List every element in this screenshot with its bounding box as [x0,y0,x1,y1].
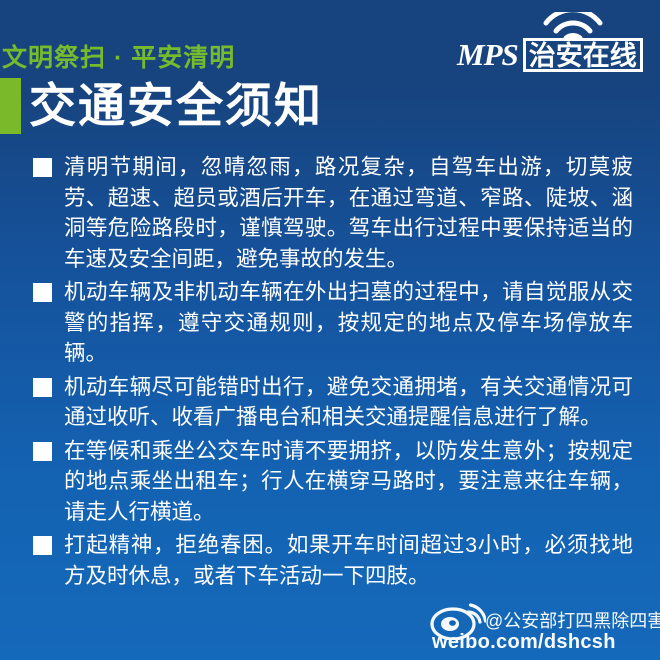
bullet-square-icon [33,283,52,302]
list-item: 机动车辆尽可能错时出行，避免交通拥堵，有关交通情况可通过收听、收看广播电台和相关… [33,372,633,433]
weibo-watermark: @公安部打四黑除四害 weibo.com/dshcsh [430,598,655,654]
notice-text: 机动车辆尽可能错时出行，避免交通拥堵，有关交通情况可通过收听、收看广播电台和相关… [64,372,633,433]
mps-latin-wordmark: MPS [454,38,523,72]
weibo-url-text: weibo.com/dshcsh [432,631,616,653]
green-accent-bar [0,78,21,134]
mps-chinese-wordmark: 治安在线 [523,38,643,72]
notice-list: 清明节期间，忽晴忽雨，路况复杂，自驾车出游，切莫疲劳、超速、超员或酒后开车，在通… [33,152,633,594]
header-subtitle: 文明祭扫 · 平安清明 [2,43,235,73]
list-item: 打起精神，拒绝春困。如果开车时间超过3小时，必须找地方及时休息，或者下车活动一下… [33,530,633,591]
notice-text: 清明节期间，忽晴忽雨，路况复杂，自驾车出游，切莫疲劳、超速、超员或酒后开车，在通… [64,152,633,274]
header: 文明祭扫 · 平安清明 交通安全须知 MPS 治安在线 [0,0,660,145]
list-item: 清明节期间，忽晴忽雨，路况复杂，自驾车出游，切莫疲劳、超速、超员或酒后开车，在通… [33,152,633,274]
bullet-square-icon [33,378,52,397]
notice-text: 打起精神，拒绝春困。如果开车时间超过3小时，必须找地方及时休息，或者下车活动一下… [64,530,633,591]
mps-logo-wordmark-row: MPS 治安在线 [454,38,643,72]
notice-text: 在等候和乘坐公交车时请不要拥挤，以防发生意外；按规定的地点乘坐出租车；行人在横穿… [64,436,633,528]
notice-text: 机动车辆及非机动车辆在外出扫墓的过程中，请自觉服从交警的指挥，遵守交通规则，按规… [64,277,633,369]
list-item: 在等候和乘坐公交车时请不要拥挤，以防发生意外；按规定的地点乘坐出租车；行人在横穿… [33,436,633,528]
bullet-square-icon [33,536,52,555]
bullet-square-icon [33,442,52,461]
mps-brand-logo: MPS 治安在线 [454,12,652,74]
page-title: 交通安全须知 [29,78,323,134]
poster-canvas: 文明祭扫 · 平安清明 交通安全须知 MPS 治安在线 清明节期间，忽晴忽雨，路… [0,0,660,660]
weibo-handle-text: @公安部打四黑除四害 [485,610,660,632]
bullet-square-icon [33,158,52,177]
list-item: 机动车辆及非机动车辆在外出扫墓的过程中，请自觉服从交警的指挥，遵守交通规则，按规… [33,277,633,369]
